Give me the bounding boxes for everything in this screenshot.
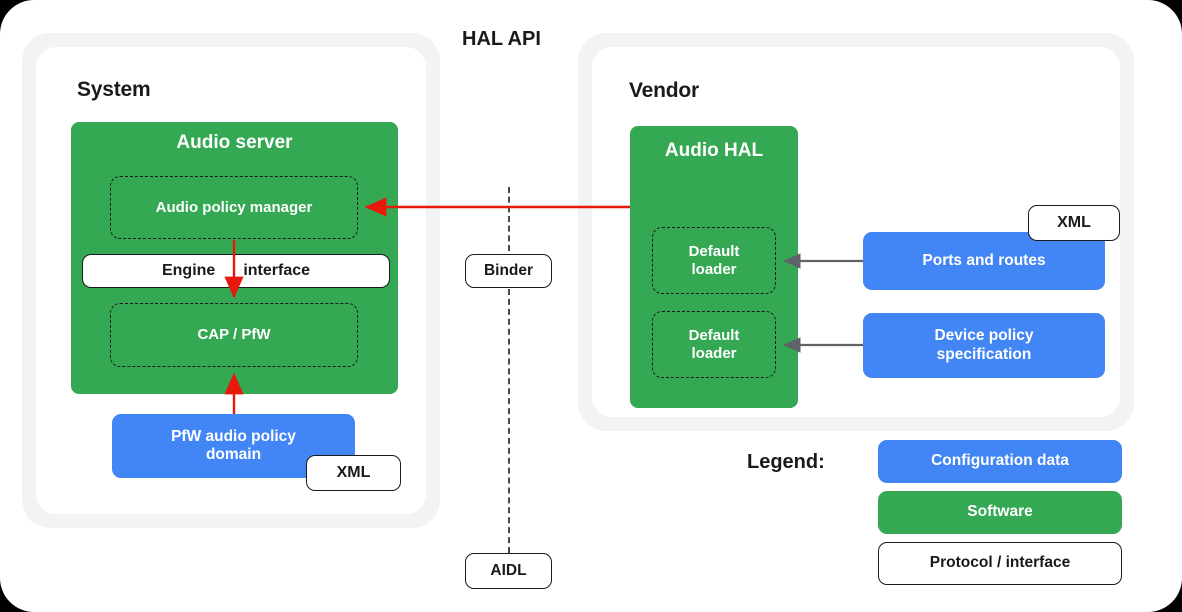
cap-pfw-label: CAP / PfW [197,326,270,344]
engine-interface-pill: Engine interface [82,254,390,288]
engine-label: Engine [148,262,229,281]
legend-item-protocol-interface: Protocol / interface [878,542,1122,585]
legend-item-configuration-data-label: Configuration data [931,452,1069,470]
cap-pfw-box: CAP / PfW [110,303,358,367]
binder-pill: Binder [465,254,552,288]
pfw-xml-badge-label: XML [337,464,371,483]
pfw-xml-badge: XML [306,455,401,491]
aidl-label: AIDL [490,562,526,580]
default-loader-bottom-label: Default loader [689,327,740,363]
interface-label: interface [229,262,324,281]
binder-label: Binder [484,262,533,280]
ports-and-routes-label: Ports and routes [922,252,1045,270]
vendor-panel-title: Vendor [629,79,699,103]
audio-policy-manager-label: Audio policy manager [156,199,313,217]
legend-label: Legend: [747,451,825,474]
legend-item-software: Software [878,491,1122,534]
default-loader-top-label: Default loader [689,243,740,279]
hal-divider-line-bottom [508,289,510,553]
default-loader-bottom-box: Default loader [652,311,776,378]
ports-xml-badge-label: XML [1057,214,1091,233]
ports-xml-badge: XML [1028,205,1120,241]
aidl-pill: AIDL [465,553,552,589]
legend-item-configuration-data: Configuration data [878,440,1122,483]
audio-hal-title: Audio HAL [630,140,798,162]
legend-item-software-label: Software [967,503,1032,521]
legend-item-protocol-interface-label: Protocol / interface [930,554,1070,572]
default-loader-top-box: Default loader [652,227,776,294]
audio-policy-manager-box: Audio policy manager [110,176,358,239]
hal-divider-line-top [508,187,510,251]
pfw-audio-policy-domain-label: PfW audio policy domain [171,428,296,465]
hal-api-title: HAL API [462,28,541,51]
system-panel-title: System [77,78,151,102]
device-policy-specification-box: Device policy specification [863,313,1105,378]
diagram-canvas: System Audio server Audio policy manager… [0,0,1182,612]
audio-server-title: Audio server [71,132,398,154]
device-policy-specification-label: Device policy specification [934,327,1033,364]
